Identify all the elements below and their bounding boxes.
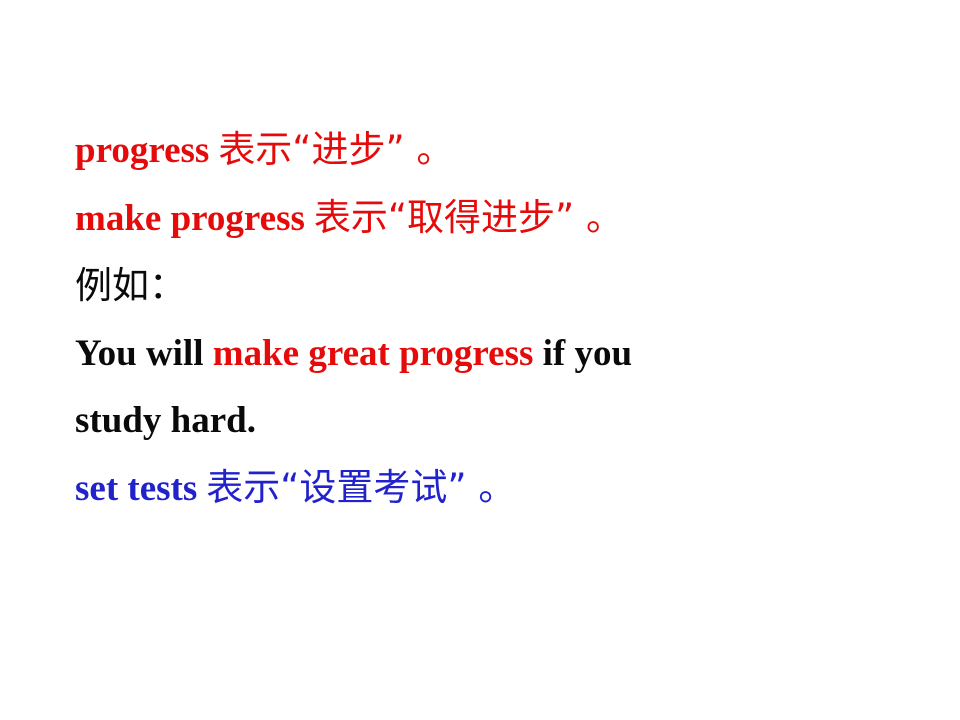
text-segment: study hard. [75,400,256,441]
text-segment: set tests [75,468,197,509]
text-segment: if you [533,333,632,374]
text-segment: progress [75,130,209,171]
text-segment: 例如： [75,264,186,307]
text-line: study hard. [75,387,935,454]
slide-canvas: progress表示“进步” 。make progress表示“取得进步” 。例… [0,0,960,720]
text-line: make progress表示“取得进步” 。 [75,184,935,252]
text-segment: 表示“取得进步” 。 [314,196,623,239]
text-line: set tests表示“设置考试” 。 [75,454,935,522]
text-segment: You will [75,333,213,374]
text-line: 例如： [75,252,935,320]
text-line: You will make great progress if you [75,320,935,387]
slide-text-block: progress表示“进步” 。make progress表示“取得进步” 。例… [75,116,935,522]
text-segment: 表示“设置考试” 。 [206,466,515,509]
text-segment: 表示“进步” 。 [218,128,453,171]
text-segment: make great progress [213,333,534,374]
text-segment: make progress [75,198,305,239]
text-line: progress表示“进步” 。 [75,116,935,184]
